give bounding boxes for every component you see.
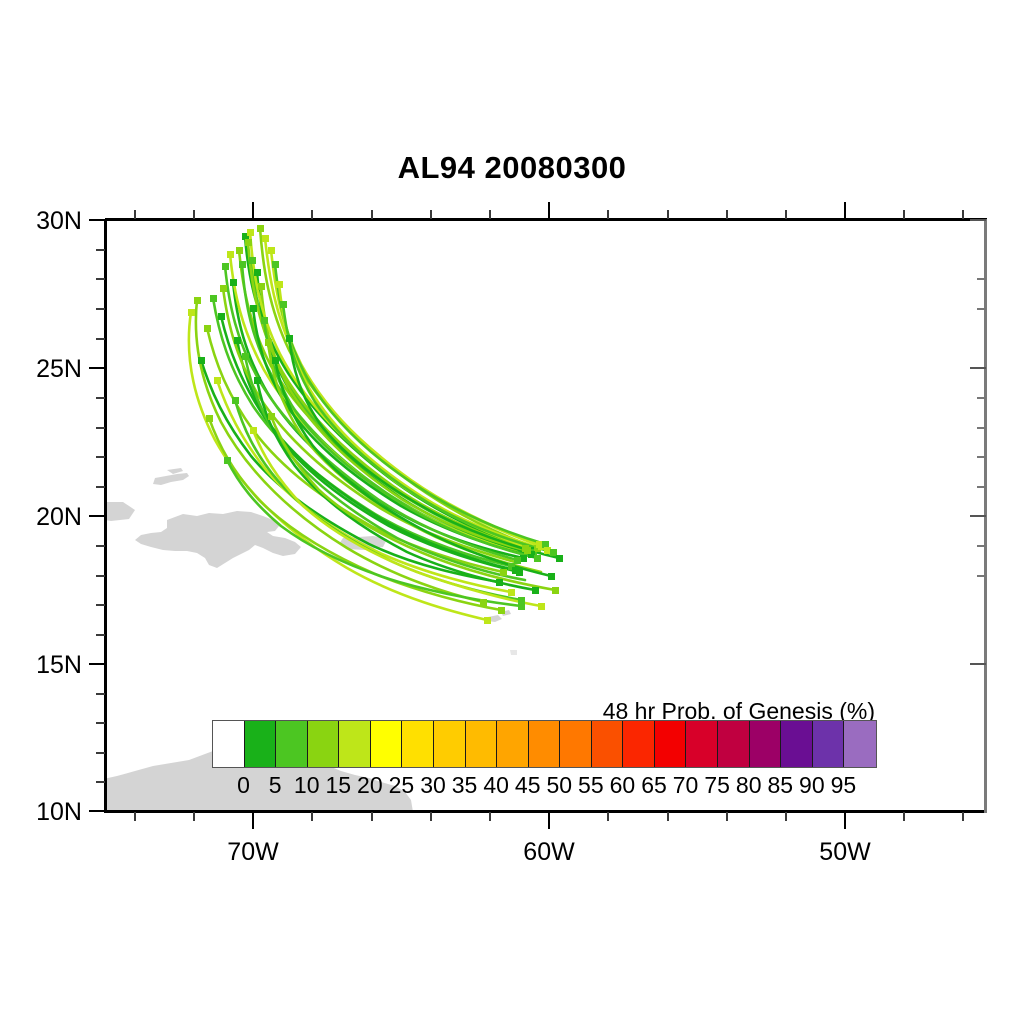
track-marker [261, 317, 268, 324]
track-marker [245, 239, 252, 246]
y-axis-label-10n: 10N [0, 798, 82, 827]
track-marker [230, 279, 237, 286]
track-marker [514, 557, 521, 564]
track-marker [498, 607, 505, 614]
genesis-probability-map: AL94 20080300 [0, 0, 1024, 1024]
colorbar [212, 720, 877, 768]
track-marker [232, 397, 239, 404]
track-marker [227, 251, 234, 258]
y-axis-label-20n: 20N [0, 503, 82, 532]
track-marker [236, 247, 243, 254]
track-marker [220, 285, 227, 292]
track-marker [550, 549, 557, 556]
colorbar-cell-16 [718, 721, 750, 767]
landmass-turks-caicos [153, 473, 189, 485]
colorbar-cell-5 [371, 721, 403, 767]
track-marker [210, 295, 217, 302]
colorbar-cells [212, 720, 877, 768]
track-marker [480, 599, 487, 606]
ensemble-track-layer [189, 228, 559, 620]
track-marker [286, 335, 293, 342]
colorbar-cell-20 [844, 721, 876, 767]
track-marker [194, 297, 201, 304]
track-marker [496, 579, 503, 586]
track-marker [524, 547, 531, 554]
track-marker [218, 313, 225, 320]
track-marker [234, 337, 241, 344]
colorbar-cell-4 [339, 721, 371, 767]
x-axis-label-70w: 70W [193, 838, 313, 867]
landmass-caicos-bank [167, 468, 183, 474]
colorbar-cell-6 [402, 721, 434, 767]
track-marker [534, 555, 541, 562]
colorbar-cell-2 [276, 721, 308, 767]
colorbar-cell-9 [497, 721, 529, 767]
track-marker [484, 617, 491, 624]
track-marker [214, 377, 221, 384]
colorbar-cell-0 [213, 721, 245, 767]
track-marker [204, 325, 211, 332]
page-title: AL94 20080300 [0, 152, 1024, 183]
track-marker [542, 541, 549, 548]
track-marker [198, 357, 205, 364]
landmass-hispaniola [135, 511, 301, 568]
track-marker [258, 283, 265, 290]
track-marker [250, 305, 257, 312]
colorbar-cell-11 [560, 721, 592, 767]
colorbar-cell-19 [813, 721, 845, 767]
track-marker [254, 377, 261, 384]
colorbar-cell-10 [529, 721, 561, 767]
track-marker [249, 257, 256, 264]
track-marker [262, 235, 269, 242]
colorbar-tick-labels: 05101520253035404550556065707580859095 [212, 772, 892, 802]
track-marker [268, 247, 275, 254]
track-marker [280, 301, 287, 308]
track-marker [544, 547, 551, 554]
track-marker [532, 587, 539, 594]
track-marker [222, 263, 229, 270]
landmass-cuba [105, 502, 135, 521]
colorbar-cell-14 [655, 721, 687, 767]
track [253, 308, 531, 556]
colorbar-cell-1 [245, 721, 277, 767]
plot-border-bottom [105, 810, 987, 813]
track-marker [224, 457, 231, 464]
plot-border-top [105, 218, 987, 221]
colorbar-cell-17 [750, 721, 782, 767]
track-marker [265, 339, 272, 346]
colorbar-tick-95: 95 [823, 772, 863, 799]
track-marker [518, 597, 525, 604]
track-marker [268, 413, 275, 420]
track-marker [508, 589, 515, 596]
colorbar-cell-13 [623, 721, 655, 767]
y-axis-label-15n: 15N [0, 651, 82, 680]
x-axis-label-60w: 60W [489, 838, 609, 867]
track-marker [520, 555, 527, 562]
track-marker [500, 569, 507, 576]
colorbar-cell-8 [466, 721, 498, 767]
track-marker [242, 353, 249, 360]
landmass-antilles-3 [510, 650, 517, 655]
track-marker [188, 309, 195, 316]
track-marker [538, 603, 545, 610]
track-marker [257, 225, 264, 232]
track-marker [276, 281, 283, 288]
track-marker [516, 569, 523, 576]
track-marker [548, 573, 555, 580]
track-marker [247, 229, 254, 236]
colorbar-cell-3 [308, 721, 340, 767]
colorbar-cell-12 [592, 721, 624, 767]
track-marker [552, 587, 559, 594]
colorbar-cell-7 [434, 721, 466, 767]
colorbar-cell-15 [686, 721, 718, 767]
colorbar-cell-18 [781, 721, 813, 767]
track-marker [254, 269, 261, 276]
track-marker [206, 415, 213, 422]
y-axis-label-25n: 25N [0, 355, 82, 384]
x-axis-label-50w: 50W [785, 838, 905, 867]
track-marker [250, 427, 257, 434]
track-marker [272, 261, 279, 268]
track-marker [239, 261, 246, 268]
y-axis-label-30n: 30N [0, 207, 82, 236]
track-marker [518, 603, 525, 610]
track-marker [272, 357, 279, 364]
track-marker [556, 555, 563, 562]
